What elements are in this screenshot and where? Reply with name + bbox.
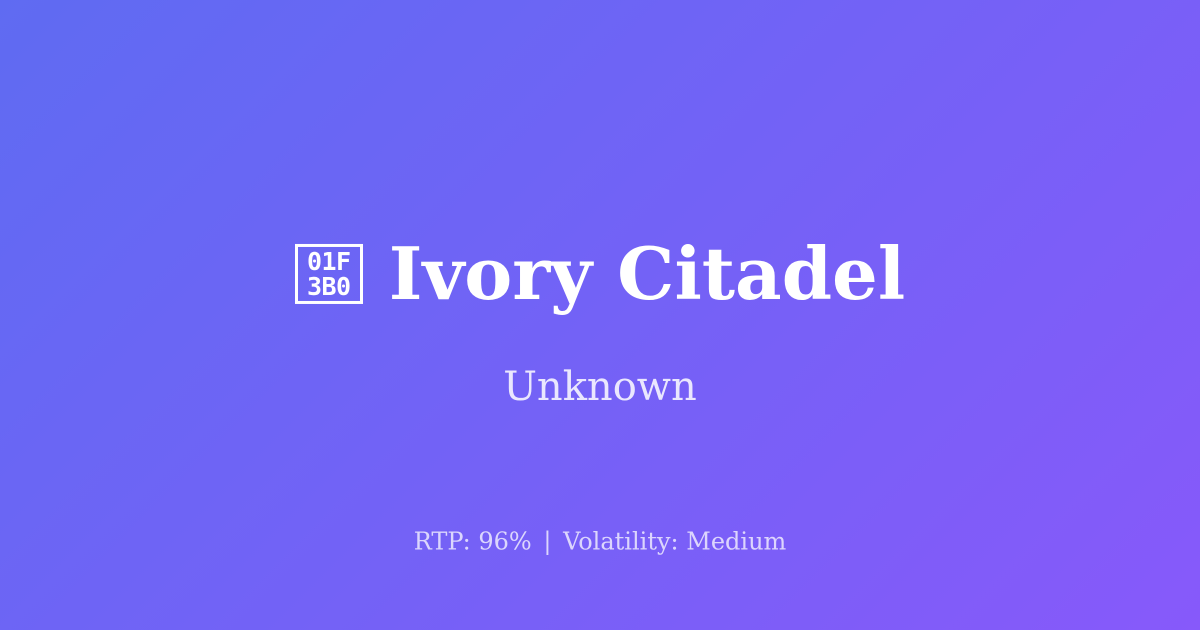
game-title: Ivory Citadel — [389, 236, 905, 312]
game-og-card: 01F 3B0 Ivory Citadel Unknown RTP: 96% |… — [0, 0, 1200, 630]
game-meta-line: RTP: 96% | Volatility: Medium — [0, 526, 1200, 557]
tofu-codepoint-top: 01F — [307, 249, 351, 274]
meta-separator: | — [539, 527, 555, 555]
rtp-label: RTP: 96% — [414, 527, 532, 555]
title-block: 01F 3B0 Ivory Citadel — [0, 188, 1200, 360]
slot-machine-emoji-icon: 01F 3B0 — [295, 244, 363, 304]
game-provider-subtitle: Unknown — [0, 363, 1200, 411]
volatility-label: Volatility: Medium — [563, 527, 786, 555]
tofu-codepoint-bottom: 3B0 — [307, 274, 351, 299]
